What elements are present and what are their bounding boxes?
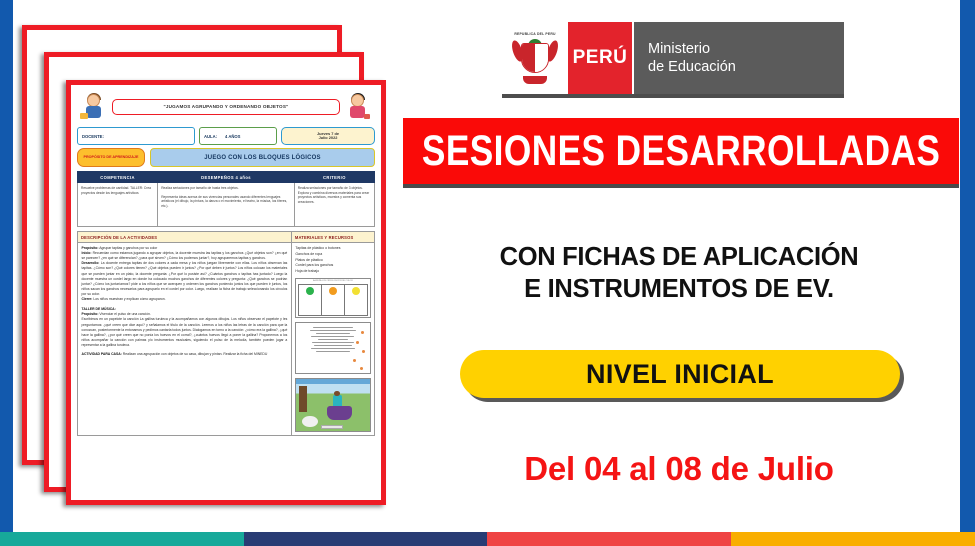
subtitle-line-1: CON FICHAS DE APLICACIÓN (398, 242, 960, 274)
cell-criterio: Realiza seriaciones por tamaño de 3 obje… (294, 183, 374, 227)
worksheet-cell (299, 285, 322, 315)
materials-list: Tapitas de plástico o botones Ganchos de… (295, 246, 370, 275)
inicio-text: Recuerdan como estamos jugando a agrupar… (82, 251, 288, 260)
inicio-label: Inicio: (82, 251, 92, 255)
para-inicio: Inicio: Recuerdan como estamos jugando a… (82, 251, 288, 261)
docente-field[interactable]: DOCENTE: (77, 127, 195, 145)
logo-underline (502, 94, 844, 98)
docente-label: DOCENTE: (82, 134, 104, 139)
aula-label: AULA: (204, 134, 217, 139)
casa-label: ACTIVIDAD PARA CASA: (82, 352, 122, 356)
para-cierre: Cierre: Los niños muestran y explican có… (82, 297, 288, 302)
desarrollo-text: La docente entrega tapitas de dos colore… (82, 261, 288, 296)
activities-header-row: DESCRIPCIÓN DE LA ACTIVIDADES MATERIALES… (78, 232, 375, 243)
peru-crest-icon: REPUBLICA DEL PERU (502, 22, 568, 94)
fecha-badge: Jueves 7 de Julio 2022 (281, 127, 375, 145)
taller-proposito-text: Vivenciar el pulso de una canción. (98, 312, 150, 316)
activities-table: DESCRIPCIÓN DE LA ACTIVIDADES MATERIALES… (77, 231, 375, 436)
level-badge[interactable]: NIVEL INICIAL (460, 350, 900, 398)
col-descripcion: DESCRIPCIÓN DE LA ACTIVIDADES (78, 232, 292, 243)
desempeno-1: Realiza seriaciones por tamaño de hasta … (161, 186, 291, 191)
competency-table: COMPETENCIA DESEMPEÑOS 4 años CRITERIO R… (77, 171, 375, 227)
bottom-color-strip (0, 532, 975, 546)
para-taller-text: Escribimos en un papelote la canción La … (82, 317, 288, 348)
cierre-label: Cierre: (82, 297, 93, 301)
worksheet-caption: AGRUPA LOS CÍRCULOS POR SU COLOR (298, 280, 368, 282)
desarrollo-label: Desarrollo: (82, 261, 100, 265)
col-desempenos: DESEMPEÑOS 4 años (158, 172, 295, 183)
main-title-text: SESIONES DESARROLLADAS (422, 130, 940, 173)
kid-boy-clipart (79, 92, 109, 122)
para-actividad-casa: ACTIVIDAD PARA CASA: Realizan una agrupa… (82, 352, 288, 357)
competency-header-row: COMPETENCIA DESEMPEÑOS 4 años CRITERIO (78, 172, 375, 183)
desempeno-2: Representa ideas acerca de sus vivencias… (161, 195, 291, 209)
proposito-label: Propósito: (82, 246, 99, 250)
strip-segment-navy (244, 532, 487, 546)
aula-value: 4 AÑOS (225, 134, 240, 139)
ministry-line-2: de Educación (648, 58, 844, 76)
strip-segment-red (487, 532, 731, 546)
date-range-text: Del 04 al 08 de Julio (398, 450, 960, 488)
kid-girl-clipart (343, 92, 373, 122)
subtitle-line-2: E INSTRUMENTOS DE EV. (398, 274, 960, 306)
aula-field[interactable]: AULA: 4 AÑOS (199, 127, 277, 145)
competency-row: Resuelve problemas de cantidad. TALLER: … (78, 183, 375, 227)
worksheet-cell (322, 285, 345, 315)
proposito-text: Agrupar tapitas y ganchos por su color (98, 246, 157, 250)
promo-panel: REPUBLICA DEL PERU PERÚ Ministerio de Ed… (398, 0, 960, 532)
document-header: "JUGAMOS AGRUPANDO Y ORDENANDO OBJETOS" (77, 90, 375, 124)
col-criterio: CRITERIO (294, 172, 374, 183)
ministry-line-1: Ministerio (648, 40, 844, 58)
main-title-banner: SESIONES DESARROLLADAS (403, 118, 959, 184)
fecha-line2: Julio 2022 (317, 136, 339, 140)
level-badge-text: NIVEL INICIAL (586, 359, 774, 390)
activity-photo-thumbnail (295, 378, 370, 432)
minedu-logo: REPUBLICA DEL PERU PERÚ Ministerio de Ed… (502, 22, 844, 94)
subtitle-block: CON FICHAS DE APLICACIÓN E INSTRUMENTOS … (398, 242, 960, 306)
cell-desempenos: Realiza seriaciones por tamaño de hasta … (158, 183, 295, 227)
strip-segment-orange (731, 532, 975, 546)
promo-flyer: "JUGAMOS AGRUPANDO Y ORDENANDO OBJETOS" … (0, 0, 975, 546)
document-stack: "JUGAMOS AGRUPANDO Y ORDENANDO OBJETOS" … (0, 0, 400, 510)
document-purpose-row: PROPÓSITO DE APRENDIZAJE JUEGO CON LOS B… (77, 148, 375, 167)
juego-bloques-pill: JUEGO CON LOS BLOQUES LÓGICOS (150, 148, 375, 167)
document-field-row: DOCENTE: AULA: 4 AÑOS Jueves 7 de Julio … (77, 127, 375, 145)
taller-proposito-label: Propósito: (82, 312, 99, 316)
casa-text: Realizan una agrupación con objetos de s… (122, 352, 268, 356)
activities-row: Propósito: Agrupar tapitas y ganchos por… (78, 243, 375, 436)
proposito-aprendizaje-pill: PROPÓSITO DE APRENDIZAJE (77, 148, 145, 167)
cierre-text: Los niños muestran y explican cómo agrup… (92, 297, 165, 301)
strip-segment-teal (0, 532, 244, 546)
cell-competencia: Resuelve problemas de cantidad. TALLER: … (78, 183, 158, 227)
col-materiales: MATERIALES Y RECURSOS (291, 232, 374, 243)
worksheet-cell (345, 285, 367, 315)
peru-wordmark: PERÚ (568, 22, 632, 94)
worksheet-grid (298, 284, 368, 316)
cell-materiales: Tapitas de plástico o botones Ganchos de… (291, 243, 374, 436)
song-sheet-thumbnail (295, 322, 370, 374)
col-competencia: COMPETENCIA (78, 172, 158, 183)
right-blue-bar (960, 0, 975, 532)
worksheet-thumbnail: AGRUPA LOS CÍRCULOS POR SU COLOR (295, 278, 370, 318)
ministry-wordmark: Ministerio de Educación (632, 22, 844, 94)
document-page-front: "JUGAMOS AGRUPANDO Y ORDENANDO OBJETOS" … (66, 80, 386, 505)
document-title: "JUGAMOS AGRUPANDO Y ORDENANDO OBJETOS" (112, 99, 340, 114)
material-item: Hoja de trabajo (295, 269, 370, 275)
cell-descripcion: Propósito: Agrupar tapitas y ganchos por… (78, 243, 292, 436)
para-desarrollo: Desarrollo: La docente entrega tapitas d… (82, 261, 288, 297)
